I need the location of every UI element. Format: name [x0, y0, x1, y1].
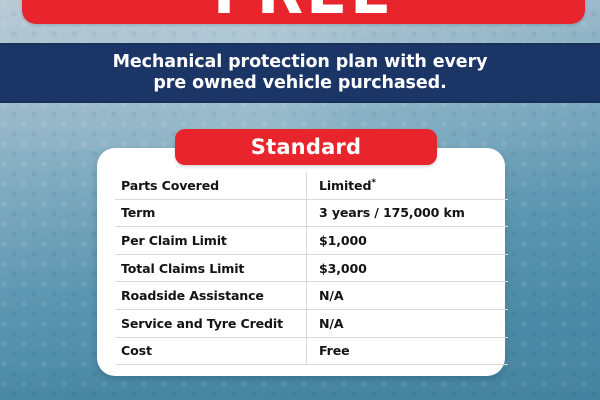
plan-tier-badge: Standard — [175, 129, 437, 165]
plan-value-cell: 3 years / 175,000 km — [307, 199, 509, 227]
plan-value-text: $3,000 — [319, 261, 367, 276]
plan-value-text: N/A — [319, 288, 343, 303]
footnote-asterisk: * — [371, 177, 376, 187]
plan-feature-cell: Term — [115, 199, 307, 227]
plan-feature-cell: Roadside Assistance — [115, 282, 307, 310]
table-row: Total Claims Limit$3,000 — [115, 254, 508, 282]
plan-value-text: 3 years / 175,000 km — [319, 205, 465, 220]
promo-poster: FREE Mechanical protection plan with eve… — [0, 0, 600, 400]
plan-value-cell: Free — [307, 337, 509, 365]
plan-value-text: $1,000 — [319, 233, 367, 248]
plan-value-text: N/A — [319, 316, 343, 331]
table-row: Roadside AssistanceN/A — [115, 282, 508, 310]
plan-value-cell: $3,000 — [307, 254, 509, 282]
plan-feature-cell: Total Claims Limit — [115, 254, 307, 282]
table-row: Per Claim Limit$1,000 — [115, 227, 508, 255]
plan-tier-label: Standard — [251, 135, 361, 159]
plan-value-cell: $1,000 — [307, 227, 509, 255]
subheading-text: Mechanical protection plan with every pr… — [113, 52, 488, 95]
plan-feature-cell: Parts Covered — [115, 172, 307, 200]
plan-feature-cell: Cost — [115, 337, 307, 365]
table-row: Parts CoveredLimited* — [115, 172, 508, 200]
free-headline-banner: FREE — [22, 0, 585, 24]
free-headline-text: FREE — [22, 0, 585, 23]
plan-details-table: Parts CoveredLimited*Term3 years / 175,0… — [115, 172, 508, 366]
plan-value-text: Limited — [319, 178, 371, 193]
table-row: Service and Tyre CreditN/A — [115, 309, 508, 337]
table-row: Term3 years / 175,000 km — [115, 199, 508, 227]
plan-value-cell: Limited* — [307, 172, 509, 200]
subheading-banner: Mechanical protection plan with every pr… — [0, 43, 600, 103]
plan-feature-cell: Service and Tyre Credit — [115, 309, 307, 337]
table-row: CostFree — [115, 337, 508, 365]
plan-value-cell: N/A — [307, 309, 509, 337]
plan-table-body: Parts CoveredLimited*Term3 years / 175,0… — [115, 172, 508, 365]
plan-value-text: Free — [319, 343, 350, 358]
plan-feature-cell: Per Claim Limit — [115, 227, 307, 255]
plan-value-cell: N/A — [307, 282, 509, 310]
